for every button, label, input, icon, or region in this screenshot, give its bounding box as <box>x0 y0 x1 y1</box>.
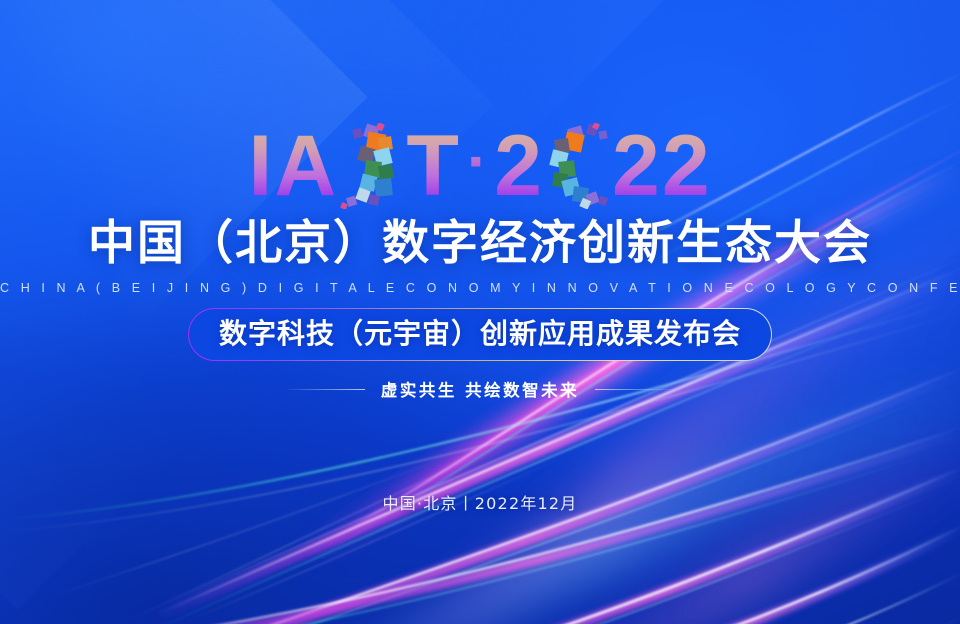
logo-text-2: 2 <box>494 123 544 209</box>
event-pill: 数字科技（元宇宙）创新应用成果发布会 <box>188 308 772 361</box>
event-logo: IA <box>0 118 960 214</box>
event-location-date: 中国·北京丨2022年12月 <box>0 490 960 514</box>
tagline-container: 虚实共生 共绘数智未来 <box>0 377 960 401</box>
logo-text-t: T <box>406 123 461 209</box>
page-subtitle-english: C H I N A ( B E I J I N G ) D I G I T A … <box>0 281 960 295</box>
logo-separator-dot: · <box>467 129 488 193</box>
logo-mosaic-digit-zero <box>545 123 611 209</box>
tagline-text: 虚实共生 共绘数智未来 <box>381 377 579 401</box>
tagline-rule-right <box>595 389 673 390</box>
poster-content: IA <box>0 0 960 624</box>
conference-poster: IA <box>0 0 960 624</box>
logo-text-22: 22 <box>612 123 712 209</box>
event-pill-label: 数字科技（元宇宙）创新应用成果发布会 <box>219 317 741 350</box>
logo-text-ia: IA <box>248 123 338 209</box>
tagline-rule-left <box>287 389 365 390</box>
page-title: 中国（北京）数字经济创新生态大会 <box>0 218 960 271</box>
logo-mosaic-letter-d <box>339 123 405 209</box>
event-pill-container: 数字科技（元宇宙）创新应用成果发布会 <box>0 308 960 361</box>
